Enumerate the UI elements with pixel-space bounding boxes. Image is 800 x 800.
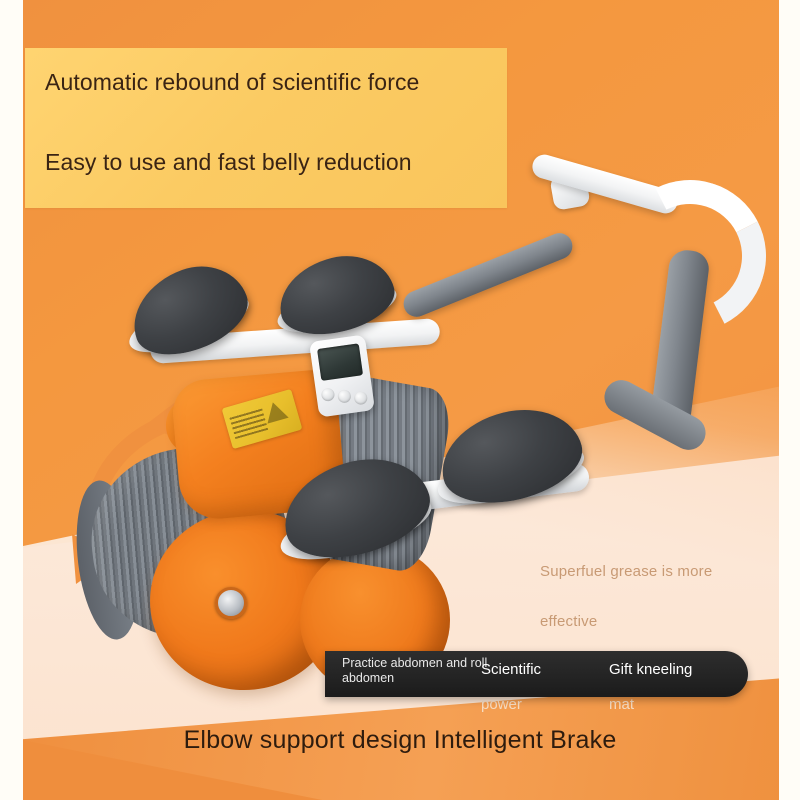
feature-overflow-power: power (481, 696, 522, 713)
product-illustration (0, 150, 800, 690)
handle-arm-grey-left (400, 229, 577, 321)
banner-line-1: Automatic rebound of scientific force (45, 68, 475, 96)
bottom-headline: Elbow support design Intelligent Brake (0, 726, 800, 755)
wheel-axle-hub (215, 587, 247, 619)
counter-button-mode[interactable] (321, 387, 336, 402)
side-note-line-2: effective (540, 613, 597, 630)
left-edge-strip (0, 0, 23, 800)
promo-image: Automatic rebound of scientific force Ea… (0, 0, 800, 800)
warning-triangle-icon (262, 399, 288, 423)
feature-item-2: Scientific (481, 661, 541, 678)
counter-button-reset[interactable] (353, 391, 368, 406)
right-edge-strip (779, 0, 800, 800)
digital-counter[interactable] (309, 334, 375, 417)
feature-item-3: Gift kneeling (609, 661, 692, 678)
side-note-line-1: Superfuel grease is more (540, 563, 712, 580)
counter-button-set[interactable] (337, 389, 352, 404)
feature-item-1: Practice abdomen and roll abdomen (342, 656, 492, 686)
counter-lcd-screen (317, 343, 363, 381)
sticker-text-lines (229, 407, 268, 439)
feature-overflow-mat: mat (609, 696, 634, 713)
